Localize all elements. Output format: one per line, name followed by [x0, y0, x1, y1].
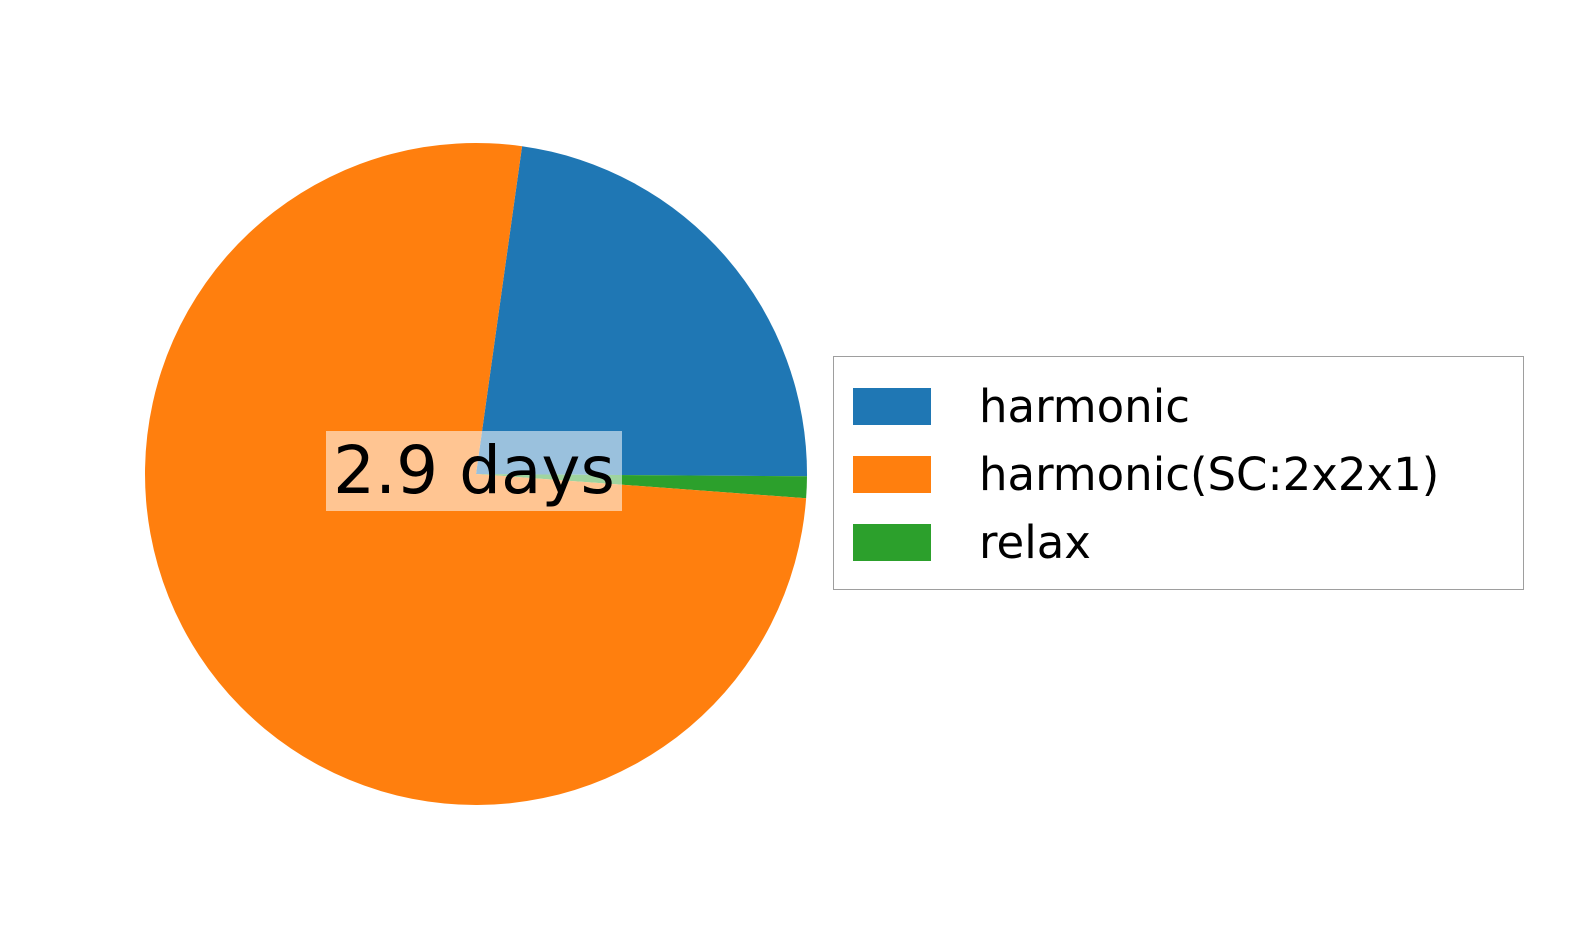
legend-label-harmonic-sc: harmonic(SC:2x2x1) — [979, 452, 1439, 497]
center-value-label: 2.9 days — [326, 431, 622, 511]
pie-wedge-harmonic[interactable] — [476, 146, 807, 476]
legend-label-relax: relax — [979, 520, 1091, 565]
legend: harmonic harmonic(SC:2x2x1) relax — [833, 356, 1524, 590]
legend-entry-harmonic[interactable]: harmonic — [834, 372, 1523, 440]
legend-entry-harmonic-sc[interactable]: harmonic(SC:2x2x1) — [834, 440, 1523, 508]
legend-label-harmonic: harmonic — [979, 384, 1190, 429]
legend-swatch-harmonic — [853, 388, 931, 425]
legend-swatch-relax — [853, 524, 931, 561]
center-value-text: 2.9 days — [333, 438, 615, 504]
pie-chart-figure: 2.9 days harmonic harmonic(SC:2x2x1) rel… — [0, 0, 1584, 951]
legend-swatch-harmonic-sc — [853, 456, 931, 493]
legend-entry-relax[interactable]: relax — [834, 508, 1523, 576]
